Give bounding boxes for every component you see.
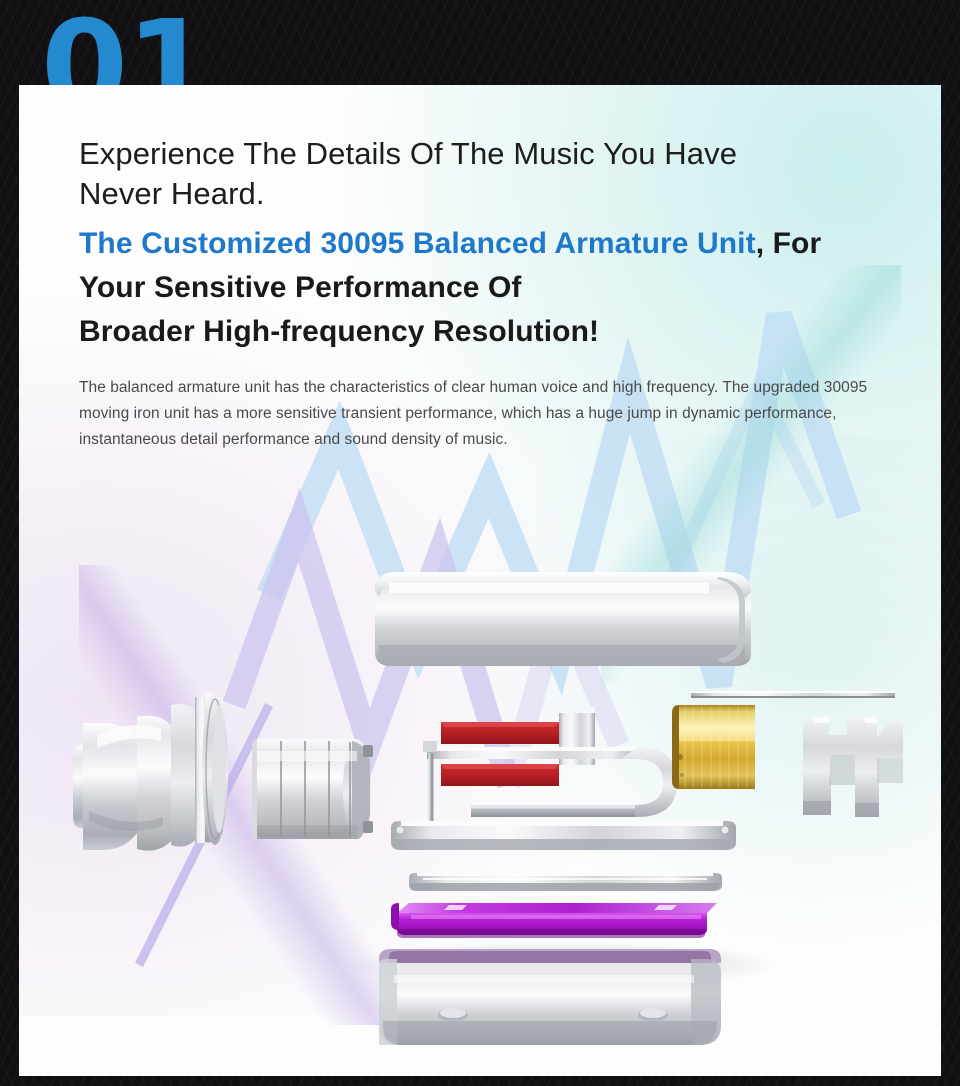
part-thin-plate	[409, 873, 722, 891]
part-diaphragm	[391, 903, 717, 938]
part-magnet-lower	[441, 764, 559, 786]
part-magnet-upper	[441, 722, 559, 744]
content-card: Experience The Details Of The Music You …	[19, 85, 941, 1076]
part-sound-nozzle	[73, 693, 228, 851]
part-connector-rod	[691, 691, 895, 698]
product-feature-slide: 01 Experience The Details Of The Music Y…	[0, 0, 960, 1086]
part-bracket-right	[855, 717, 903, 817]
part-bottom-casing	[379, 949, 721, 1045]
part-base-plate	[391, 821, 736, 850]
exploded-view-diagram	[19, 85, 941, 1076]
part-bracket-left	[803, 717, 857, 815]
part-voice-coil	[672, 705, 755, 789]
part-top-cover	[375, 572, 751, 666]
part-ribbed-sleeve	[252, 739, 373, 839]
